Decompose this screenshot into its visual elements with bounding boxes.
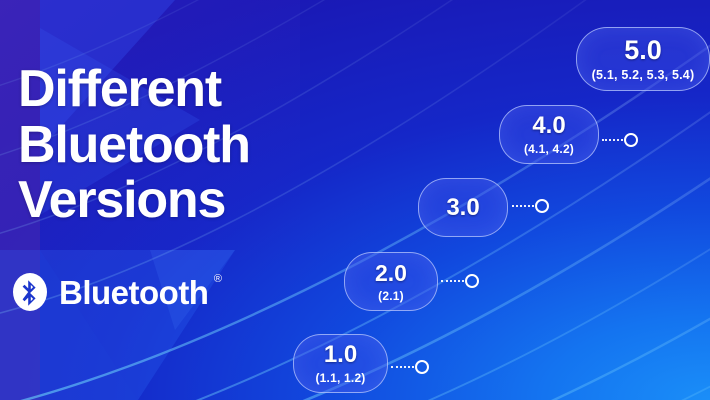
connector-2-0 xyxy=(441,275,479,287)
version-badge-4-0[interactable]: 4.0 (4.1, 4.2) xyxy=(499,105,599,164)
connector-line xyxy=(512,205,534,207)
connector-line xyxy=(441,280,464,282)
version-sub-list: (2.1) xyxy=(378,290,404,302)
title-line-1: Different xyxy=(18,62,348,118)
connector-line xyxy=(391,366,414,368)
wordmark-text: Bluetooth xyxy=(59,274,208,311)
connector-line xyxy=(602,139,623,141)
connector-node xyxy=(535,199,549,213)
version-number: 2.0 xyxy=(375,262,407,285)
title-line-3: Versions xyxy=(18,173,348,229)
version-number: 3.0 xyxy=(446,196,479,220)
version-badge-2-0[interactable]: 2.0 (2.1) xyxy=(344,252,438,311)
version-number: 1.0 xyxy=(324,343,357,367)
connector-node xyxy=(465,274,479,288)
page-title: Different Bluetooth Versions xyxy=(18,62,348,229)
connector-node xyxy=(624,133,638,147)
connector-4-0 xyxy=(602,134,638,146)
version-number: 4.0 xyxy=(532,114,565,138)
version-number: 5.0 xyxy=(624,37,662,64)
connector-3-0 xyxy=(512,200,549,212)
registered-mark: ® xyxy=(214,274,222,285)
version-badge-5-0[interactable]: 5.0 (5.1, 5.2, 5.3, 5.4) xyxy=(576,27,710,91)
connector-1-0 xyxy=(391,361,429,373)
version-badge-3-0[interactable]: 3.0 xyxy=(418,178,508,237)
bluetooth-icon xyxy=(10,272,50,312)
connector-node xyxy=(415,360,429,374)
version-badge-1-0[interactable]: 1.0 (1.1, 1.2) xyxy=(293,334,388,393)
bluetooth-wordmark: Bluetooth ® xyxy=(59,276,208,309)
version-sub-list: (1.1, 1.2) xyxy=(315,372,365,384)
bluetooth-versions-infographic: Different Bluetooth Versions Bluetooth ®… xyxy=(0,0,710,400)
bluetooth-logo-lockup: Bluetooth ® xyxy=(10,272,208,312)
title-line-2: Bluetooth xyxy=(18,118,348,174)
version-sub-list: (5.1, 5.2, 5.3, 5.4) xyxy=(592,69,695,82)
version-sub-list: (4.1, 4.2) xyxy=(524,143,574,155)
